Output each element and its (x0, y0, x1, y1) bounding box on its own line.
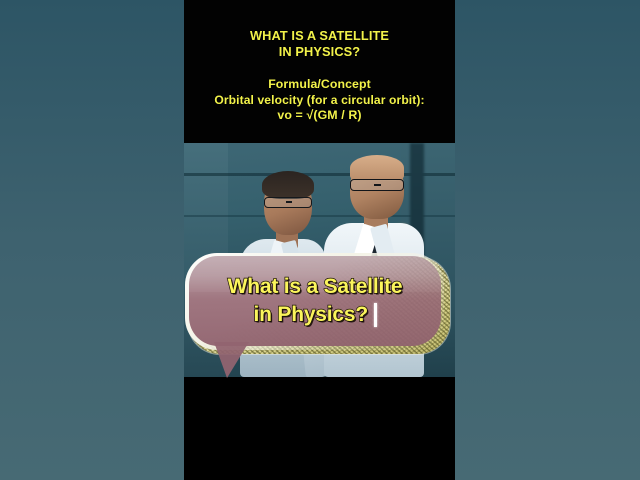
formula-description: Orbital velocity (for a circular orbit): (214, 93, 424, 109)
video-title-line-1: WHAT IS A SATELLITE (250, 28, 389, 44)
bubble-text-group: What is a Satellite in Physics? (189, 256, 441, 346)
ambient-left-bar (0, 0, 186, 480)
bubble-tail (214, 342, 249, 378)
formula-equation: vo = √(GM / R) (277, 108, 361, 124)
bubble-caption-line-1: What is a Satellite (228, 274, 403, 300)
header-caption-panel: WHAT IS A SATELLITE IN PHYSICS? Formula/… (184, 0, 455, 143)
ambient-right-bar (454, 0, 640, 480)
video-player-frame[interactable]: WHAT IS A SATELLITE IN PHYSICS? Formula/… (184, 0, 455, 480)
text-caret (374, 303, 377, 327)
glasses-bridge (374, 184, 381, 186)
formula-heading: Formula/Concept (268, 77, 371, 93)
glasses-bridge (286, 201, 292, 203)
bubble-caption-line-2: in Physics? (253, 302, 368, 328)
bubble-caption-line-2-row: in Physics? (253, 302, 376, 328)
video-title-line-2: IN PHYSICS? (279, 44, 360, 60)
speech-bubble: What is a Satellite in Physics? (184, 250, 455, 385)
footer-black-panel (184, 377, 455, 480)
hair (262, 171, 314, 199)
formula-block: Formula/Concept Orbital velocity (for a … (214, 77, 424, 124)
bald-scalp (350, 155, 404, 181)
